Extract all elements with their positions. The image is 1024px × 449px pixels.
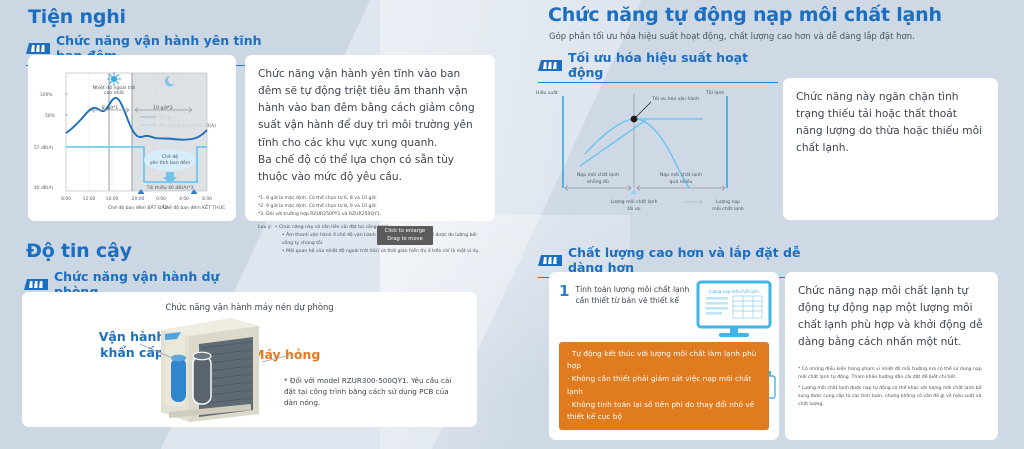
quality-footnote-2: * Lượng môi chất lạnh được nạp tự động c…	[798, 385, 985, 409]
optimize-left-span-line2: không đủ	[587, 178, 609, 185]
bars-icon	[538, 56, 562, 75]
highlight-3: · Không tính toán lại số tiền phí do tha…	[567, 399, 761, 424]
highlights-box: · Tự động kết thúc với lượng môi chất là…	[559, 342, 769, 430]
y-tick-57db: 57 dB(A)	[34, 145, 53, 151]
optimize-x-right-line1: Lượng nạp	[716, 199, 740, 205]
auto-charge-steps-card: 1 Tính toán lượng môi chất lạnh cần thiế…	[549, 272, 779, 440]
x-tick-3: 20:00	[132, 196, 145, 202]
step-1-text: Tính toán lượng môi chất lạnh cần thiết …	[575, 284, 699, 307]
auto-charge-subtitle: Góp phần tối ưu hóa hiệu suất hoạt động,…	[549, 32, 989, 42]
optimize-y-left-label: Hiệu suất	[536, 89, 558, 96]
x-tick-0: 8:00	[61, 196, 71, 202]
optimize-text-card: Chức năng này ngăn chặn tình trạng thiếu…	[783, 78, 998, 220]
optimize-x-right-line2: môi chất lạnh	[712, 205, 744, 212]
section-heading-label: Chất lượng cao hơn và lắp đặt dễ dàng hơ…	[568, 245, 828, 275]
optimize-left-span-line1: Nạp môi chất lạnh	[577, 171, 619, 178]
step-1: 1 Tính toán lượng môi chất lạnh cần thiế…	[559, 284, 699, 307]
annotation-mode-end: Chế độ ban đêm KẾT THÚC	[163, 203, 225, 211]
optimize-chart[interactable]: Hiệu suất Tải lạnh Tối ưu hóa vận hành	[530, 76, 780, 221]
quiet-night-note-0: • Chức năng này có sẵn liên cài đặt tại …	[275, 224, 391, 232]
auto-charge-description-card: Chức năng nạp môi chất lạnh tự động tự đ…	[785, 272, 998, 440]
page-title-comfort: Tiện nghi	[28, 6, 126, 28]
enlarge-badge[interactable]: Click to enlarge Drag to move	[377, 226, 433, 245]
quiet-night-chart[interactable]: Tải % Âm thanh vận hành dB(A) 100% 50% 5…	[28, 55, 236, 221]
annotation-mode-line1: Chế độ	[162, 153, 178, 160]
optimize-right-span-line2: quá nhiều	[670, 177, 693, 185]
page-title-auto-charge: Chức năng tự động nạp môi chất lạnh	[548, 4, 942, 26]
bars-icon	[24, 275, 48, 294]
quality-paragraph-1: Chức năng nạp môi chất lạnh tự động tự đ…	[798, 283, 985, 352]
optimize-x-center-line2: tối ưu	[627, 205, 640, 212]
annotation-span-10h: 10 giờ*2	[153, 104, 173, 111]
sun-icon	[108, 73, 121, 86]
optimize-peak-label: Tối ưu hóa vận hành	[651, 95, 699, 102]
optimize-right-span-line1: Nạp môi chất lạnh	[660, 171, 702, 178]
brochure-page: Tiện nghi Chức năng vận hành yên tĩnh ba…	[0, 0, 1024, 449]
annotation-peak-temp-line2: cao nhất	[104, 89, 124, 96]
annotation-mode-start: Chế độ ban đêm BẮT ĐẦU	[108, 203, 168, 211]
page-title-reliability: Độ tin cậy	[26, 240, 132, 262]
y-tick-40db: 40 dB(A)	[34, 185, 53, 191]
annotation-span-8h: 8 giờ*1	[102, 104, 119, 111]
x-tick-1: 12:00	[83, 196, 96, 202]
x-tick-2: 16:00	[106, 196, 119, 202]
quiet-night-text-card: Chức năng vận hành yên tĩnh vào ban đêm …	[245, 55, 495, 221]
backup-operation-card: Chức năng vận hành máy nén dự phòng Vận …	[22, 292, 477, 427]
quiet-night-notes-label: Lưu ý:	[258, 224, 272, 232]
monitor-caption: Lượng nạp môi chất lạnh	[709, 289, 759, 294]
annotation-peak-temp-line1: Nhiệt độ ngoài trời	[93, 84, 136, 91]
annotation-min-level: Tối thiểu 40 dB(A)*3	[146, 184, 194, 191]
step-1-number: 1	[559, 284, 569, 307]
monitor-icon: Lượng nạp môi chất lạnh	[695, 280, 773, 342]
highlight-1: · Tự động kết thúc với lượng môi chất là…	[567, 348, 761, 373]
quiet-night-paragraph-1: Chức năng vận hành yên tĩnh vào ban đêm …	[258, 66, 482, 152]
highlight-2: · Không cần thiết phải giám sát việc nạp…	[567, 373, 761, 398]
annotation-mode-line2: yên tĩnh ban đêm	[150, 159, 191, 166]
bars-icon	[538, 251, 562, 270]
quiet-night-chart-card[interactable]: Tải % Âm thanh vận hành dB(A) 100% 50% 5…	[28, 55, 236, 221]
quiet-night-note-2: • Mối quan hệ của nhiệt độ ngoài trời (t…	[282, 248, 482, 256]
optimize-y-right-label: Tải lạnh	[705, 89, 724, 96]
quality-footnote-1: * Có những điều kiện trong phạm vi nhiệt…	[798, 366, 985, 382]
enlarge-badge-line2: Drag to move	[381, 236, 429, 244]
quiet-night-footnote-2: *2. 9 giờ là mặc định. Có thể chọn từ 8,…	[258, 203, 482, 211]
backup-note: * Đối với model RZUR300-500QY1. Yêu cầu …	[284, 376, 464, 408]
optimize-x-center-line1: Lượng môi chất lạnh	[610, 198, 657, 205]
quiet-night-footnote-1: *1. 8 giờ là mặc định. Có thể chọn từ 6,…	[258, 195, 482, 203]
x-tick-6: 8:00	[202, 196, 212, 202]
enlarge-badge-line1: Click to enlarge	[381, 228, 429, 236]
optimize-chart-wrap[interactable]: Hiệu suất Tải lạnh Tối ưu hóa vận hành	[530, 76, 780, 221]
x-tick-5: 4:00	[179, 196, 189, 202]
y-tick-50: 50%	[45, 113, 55, 119]
x-tick-4: 0:00	[156, 196, 166, 202]
optimize-paragraph-1: Chức năng này ngăn chặn tình trạng thiếu…	[796, 89, 985, 158]
quiet-night-footnote-3: *3. Đối với trường hợp RZUR250PY1 và RZU…	[258, 211, 482, 219]
quiet-night-paragraph-2: Ba chế độ có thể lựa chọn có sẵn tùy thu…	[258, 152, 482, 186]
y-tick-100: 100%	[40, 92, 53, 98]
